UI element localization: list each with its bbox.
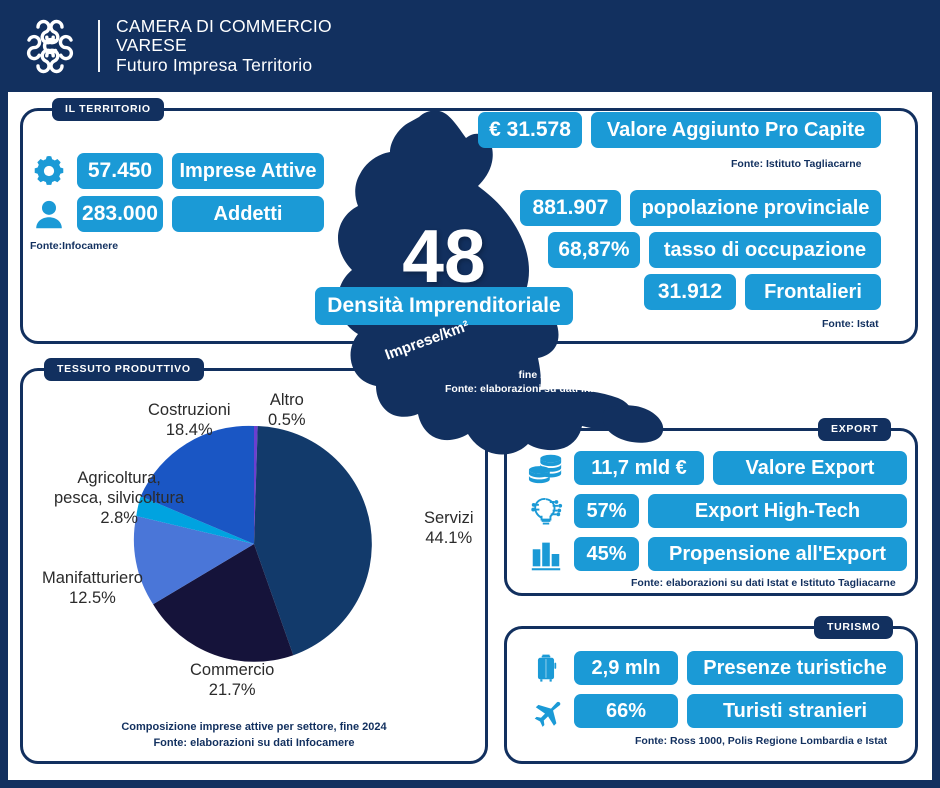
- person-icon: [30, 195, 68, 233]
- logo-divider: [98, 20, 100, 72]
- occupazione-label: tasso di occupazione: [649, 232, 881, 268]
- pie-label-servizi-name: Servizi: [424, 508, 474, 528]
- panel-turismo: 2,9 mln Presenze turistiche 66% Turisti …: [504, 626, 918, 764]
- valore-aggiunto-label: Valore Aggiunto Pro Capite: [591, 112, 881, 148]
- cciaa-swirl-logo-icon: [18, 16, 82, 76]
- addetti-value: 283.000: [77, 196, 163, 232]
- stat-row-popolazione: 881.907 popolazione provinciale: [520, 190, 881, 226]
- pie-label-agricoltura-pct: 2.8%: [54, 508, 184, 528]
- pie-label-commercio: Commercio 21.7%: [190, 660, 274, 700]
- pie-label-servizi: Servizi 44.1%: [424, 508, 474, 548]
- pie-label-servizi-pct: 44.1%: [424, 528, 474, 548]
- valore-export-value: 11,7 mld €: [574, 451, 704, 485]
- pie-label-manifatturiero-pct: 12.5%: [42, 588, 143, 608]
- panel-export: 11,7 mld € Valore Export: [504, 428, 918, 596]
- suitcase-icon: [527, 649, 565, 687]
- stat-row-valore-export: 11,7 mld € Valore Export: [527, 449, 907, 487]
- airplane-icon: [527, 692, 565, 730]
- pie-label-manifatturiero-name: Manifatturiero: [42, 568, 143, 588]
- tab-export: EXPORT: [818, 418, 891, 441]
- pie-caption-line-2: Fonte: elaborazioni su dati Infocamere: [32, 736, 476, 752]
- turisti-stranieri-label: Turisti stranieri: [687, 694, 903, 728]
- stat-row-tasso-occupazione: 68,87% tasso di occupazione: [548, 232, 881, 268]
- org-tagline: Futuro Impresa Territorio: [116, 56, 332, 76]
- pie-label-altro-pct: 0.5%: [268, 410, 306, 430]
- stat-row-export-high-tech: 57% Export High-Tech: [527, 492, 907, 530]
- popolazione-label: popolazione provinciale: [630, 190, 881, 226]
- imprese-attive-value: 57.450: [77, 153, 163, 189]
- source-tagliacarne: Fonte: Istituto Tagliacarne: [731, 158, 861, 170]
- valore-aggiunto-value: € 31.578: [478, 112, 582, 148]
- coins-icon: [527, 449, 565, 487]
- bar-chart-icon: [527, 535, 565, 573]
- pie-label-agricoltura-name-2: pesca, silvicoltura: [54, 488, 184, 508]
- pie-label-commercio-name: Commercio: [190, 660, 274, 680]
- pie-label-agricoltura: Agricoltura, pesca, silvicoltura 2.8%: [54, 468, 184, 528]
- pie-label-altro-name: Altro: [268, 390, 306, 410]
- pie-label-altro: Altro 0.5%: [268, 390, 306, 430]
- source-infocamere: Fonte:Infocamere: [30, 240, 118, 252]
- stat-row-frontalieri: 31.912 Frontalieri: [644, 274, 881, 310]
- org-line-1: CAMERA DI COMMERCIO: [116, 17, 332, 37]
- pie-caption: Composizione imprese attive per settore,…: [32, 720, 476, 752]
- stat-row-imprese-attive: 57.450 Imprese Attive: [30, 152, 324, 190]
- infographic-page: CAMERA DI COMMERCIO VARESE Futuro Impres…: [0, 0, 940, 788]
- pie-caption-line-1: Composizione imprese attive per settore,…: [32, 720, 476, 736]
- export-high-tech-label: Export High-Tech: [648, 494, 907, 528]
- popolazione-value: 881.907: [520, 190, 621, 226]
- stat-row-turisti-stranieri: 66% Turisti stranieri: [527, 692, 903, 730]
- propensione-export-label: Propensione all'Export: [648, 537, 907, 571]
- tab-tessuto-produttivo: TESSUTO PRODUTTIVO: [44, 358, 204, 381]
- densita-number: 48: [294, 222, 594, 291]
- content-canvas: IL TERRITORIO 57.450 Imprese Attive: [8, 92, 932, 780]
- pie-chart-area: Costruzioni 18.4% Altro 0.5% Agricoltura…: [20, 368, 488, 764]
- stat-row-presenze-turistiche: 2,9 mln Presenze turistiche: [527, 649, 903, 687]
- source-turismo: Fonte: Ross 1000, Polis Regione Lombardi…: [635, 735, 887, 747]
- pie-label-agricoltura-name-1: Agricoltura,: [54, 468, 184, 488]
- tab-il-territorio: IL TERRITORIO: [52, 98, 164, 121]
- brand-text: CAMERA DI COMMERCIO VARESE Futuro Impres…: [116, 17, 332, 76]
- presenze-turistiche-label: Presenze turistiche: [687, 651, 903, 685]
- source-istat: Fonte: Istat: [822, 318, 879, 330]
- imprese-attive-label: Imprese Attive: [172, 153, 324, 189]
- frontalieri-value: 31.912: [644, 274, 736, 310]
- source-export: Fonte: elaborazioni su dati Istat e Isti…: [631, 577, 896, 589]
- propensione-export-value: 45%: [574, 537, 639, 571]
- pie-label-costruzioni-pct: 18.4%: [148, 420, 231, 440]
- pie-label-commercio-pct: 21.7%: [190, 680, 274, 700]
- org-line-2: VARESE: [116, 36, 332, 56]
- header-bar: CAMERA DI COMMERCIO VARESE Futuro Impres…: [0, 0, 940, 92]
- pie-label-costruzioni: Costruzioni 18.4%: [148, 400, 231, 440]
- export-high-tech-value: 57%: [574, 494, 639, 528]
- pie-label-manifatturiero: Manifatturiero 12.5%: [42, 568, 143, 608]
- stat-row-addetti: 283.000 Addetti: [30, 195, 324, 233]
- tab-turismo: TURISMO: [814, 616, 893, 639]
- hightech-bulb-icon: [527, 492, 565, 530]
- frontalieri-label: Frontalieri: [745, 274, 881, 310]
- gear-icon: [30, 152, 68, 190]
- densita-imprenditoriale-block: 48 Densità Imprenditoriale: [294, 222, 594, 325]
- stat-row-propensione-export: 45% Propensione all'Export: [527, 535, 907, 573]
- presenze-turistiche-value: 2,9 mln: [574, 651, 678, 685]
- pie-label-costruzioni-name: Costruzioni: [148, 400, 231, 420]
- valore-export-label: Valore Export: [713, 451, 907, 485]
- stat-row-valore-aggiunto: € 31.578 Valore Aggiunto Pro Capite: [478, 112, 881, 148]
- densita-label: Densità Imprenditoriale: [315, 287, 572, 325]
- turisti-stranieri-value: 66%: [574, 694, 678, 728]
